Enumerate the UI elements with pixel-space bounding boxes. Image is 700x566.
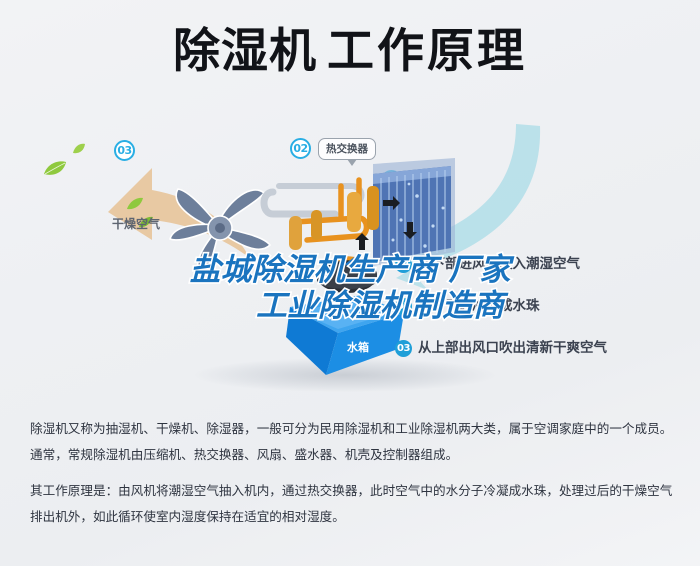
step-text: 水分子遇冷凝成水珠: [418, 298, 540, 315]
list-item: 03 从上部出风口吹出清新干爽空气: [395, 340, 695, 382]
water-tank-label-text: 水箱: [347, 340, 369, 354]
step-text: 从下部进风口吸入潮湿空气: [418, 256, 580, 273]
diagram-stage: 03 干燥空气 02 热交换器 01 潮湿空气: [0, 118, 700, 408]
list-item: 02 水分子遇冷凝成水珠: [395, 298, 695, 340]
badge-03-dry-air: 03: [114, 140, 135, 161]
infographic-page: 除湿机工作原理: [0, 0, 700, 566]
paragraph-2-line-1: 其工作原理是：由风机将潮湿空气抽入机内，通过热交换器，此时空气中的水分子冷凝成水…: [30, 480, 675, 502]
title-part-1: 除湿机: [173, 28, 317, 75]
paragraph-1-line-1: 除湿机又称为抽湿机、干燥机、除湿器，一般可分为民用除湿机和工业除湿机两大类，属于…: [30, 418, 675, 440]
list-item: 01 从下部进风口吸入潮湿空气: [395, 256, 695, 298]
leaf-icon-3: [126, 196, 144, 215]
water-tank-graphic: 水箱: [280, 293, 410, 383]
step-list: 01 从下部进风口吸入潮湿空气 02 水分子遇冷凝成水珠 03 从上部出风口吹出…: [395, 256, 695, 382]
leaf-icon-1: [42, 160, 68, 182]
label-dry-air: 干燥空气: [112, 215, 160, 232]
step-badge: 03: [395, 340, 412, 357]
paragraph-2-line-2: 排出机外，如此循环使室内湿度保持在适宜的相对湿度。: [30, 506, 675, 528]
step-badge: 02: [395, 298, 412, 315]
title-part-2: 工作原理: [327, 28, 527, 75]
paragraph-1-line-2: 通常，常规除湿机由压缩机、热交换器、风扇、盛水器、机壳及控制器组成。: [30, 444, 675, 466]
step-badge: 01: [395, 256, 412, 273]
step-text: 从上部出风口吹出清新干爽空气: [418, 340, 607, 357]
leaf-icon-2: [72, 140, 86, 159]
body-copy: 除湿机又称为抽湿机、干燥机、除湿器，一般可分为民用除湿机和工业除湿机两大类，属于…: [30, 418, 675, 532]
page-title: 除湿机工作原理: [0, 28, 700, 75]
